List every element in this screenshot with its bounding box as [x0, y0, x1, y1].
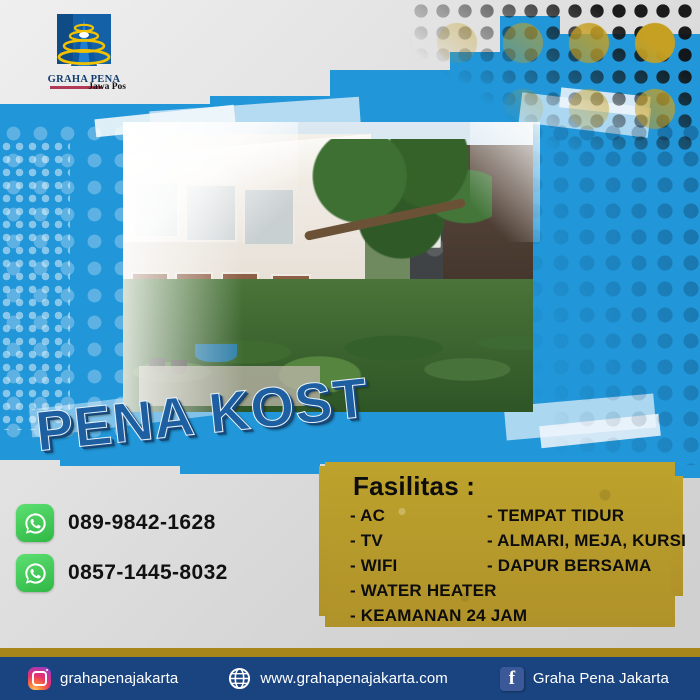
footer-website[interactable]: www.grahapenajakarta.com	[228, 667, 448, 690]
contact-row-2: 0857-1445-8032	[16, 554, 228, 592]
facilities-heading: Fasilitas :	[353, 471, 475, 502]
facebook-icon: f	[500, 667, 524, 691]
facility-item: - DAPUR BERSAMA	[487, 553, 686, 578]
brand-logo: GRAHA PENA Jawa Pos	[36, 14, 132, 100]
facility-item: - TEMPAT TIDUR	[487, 503, 686, 528]
footer-facebook[interactable]: f Graha Pena Jakarta	[500, 667, 669, 691]
graha-pena-tower-icon	[49, 14, 119, 72]
facility-item: - WATER HEATER	[350, 578, 527, 603]
facilities-list-right: - TEMPAT TIDUR - ALMARI, MEJA, KURSI - D…	[487, 503, 686, 578]
facebook-page: Graha Pena Jakarta	[533, 670, 669, 687]
brush-chunk	[180, 452, 320, 474]
facility-item: - ALMARI, MEJA, KURSI	[487, 528, 686, 553]
footer-bar: grahapenajakarta www.grahapenajakarta.co…	[0, 657, 700, 700]
whatsapp-icon	[16, 504, 54, 542]
instagram-icon	[28, 667, 51, 690]
whatsapp-number-1[interactable]: 089-9842-1628	[68, 511, 216, 535]
facility-item: - KEAMANAN 24 JAM	[350, 603, 527, 628]
instagram-handle: grahapenajakarta	[60, 670, 178, 687]
footer-instagram[interactable]: grahapenajakarta	[28, 667, 178, 690]
footer-gold-strip	[0, 648, 700, 657]
whatsapp-icon	[16, 554, 54, 592]
contact-row-1: 089-9842-1628	[16, 504, 216, 542]
whatsapp-number-2[interactable]: 0857-1445-8032	[68, 561, 228, 585]
globe-icon	[228, 667, 251, 690]
website-url: www.grahapenajakarta.com	[260, 670, 448, 687]
flyer-canvas: GRAHA PENA Jawa Pos PENA KOST	[0, 0, 700, 700]
